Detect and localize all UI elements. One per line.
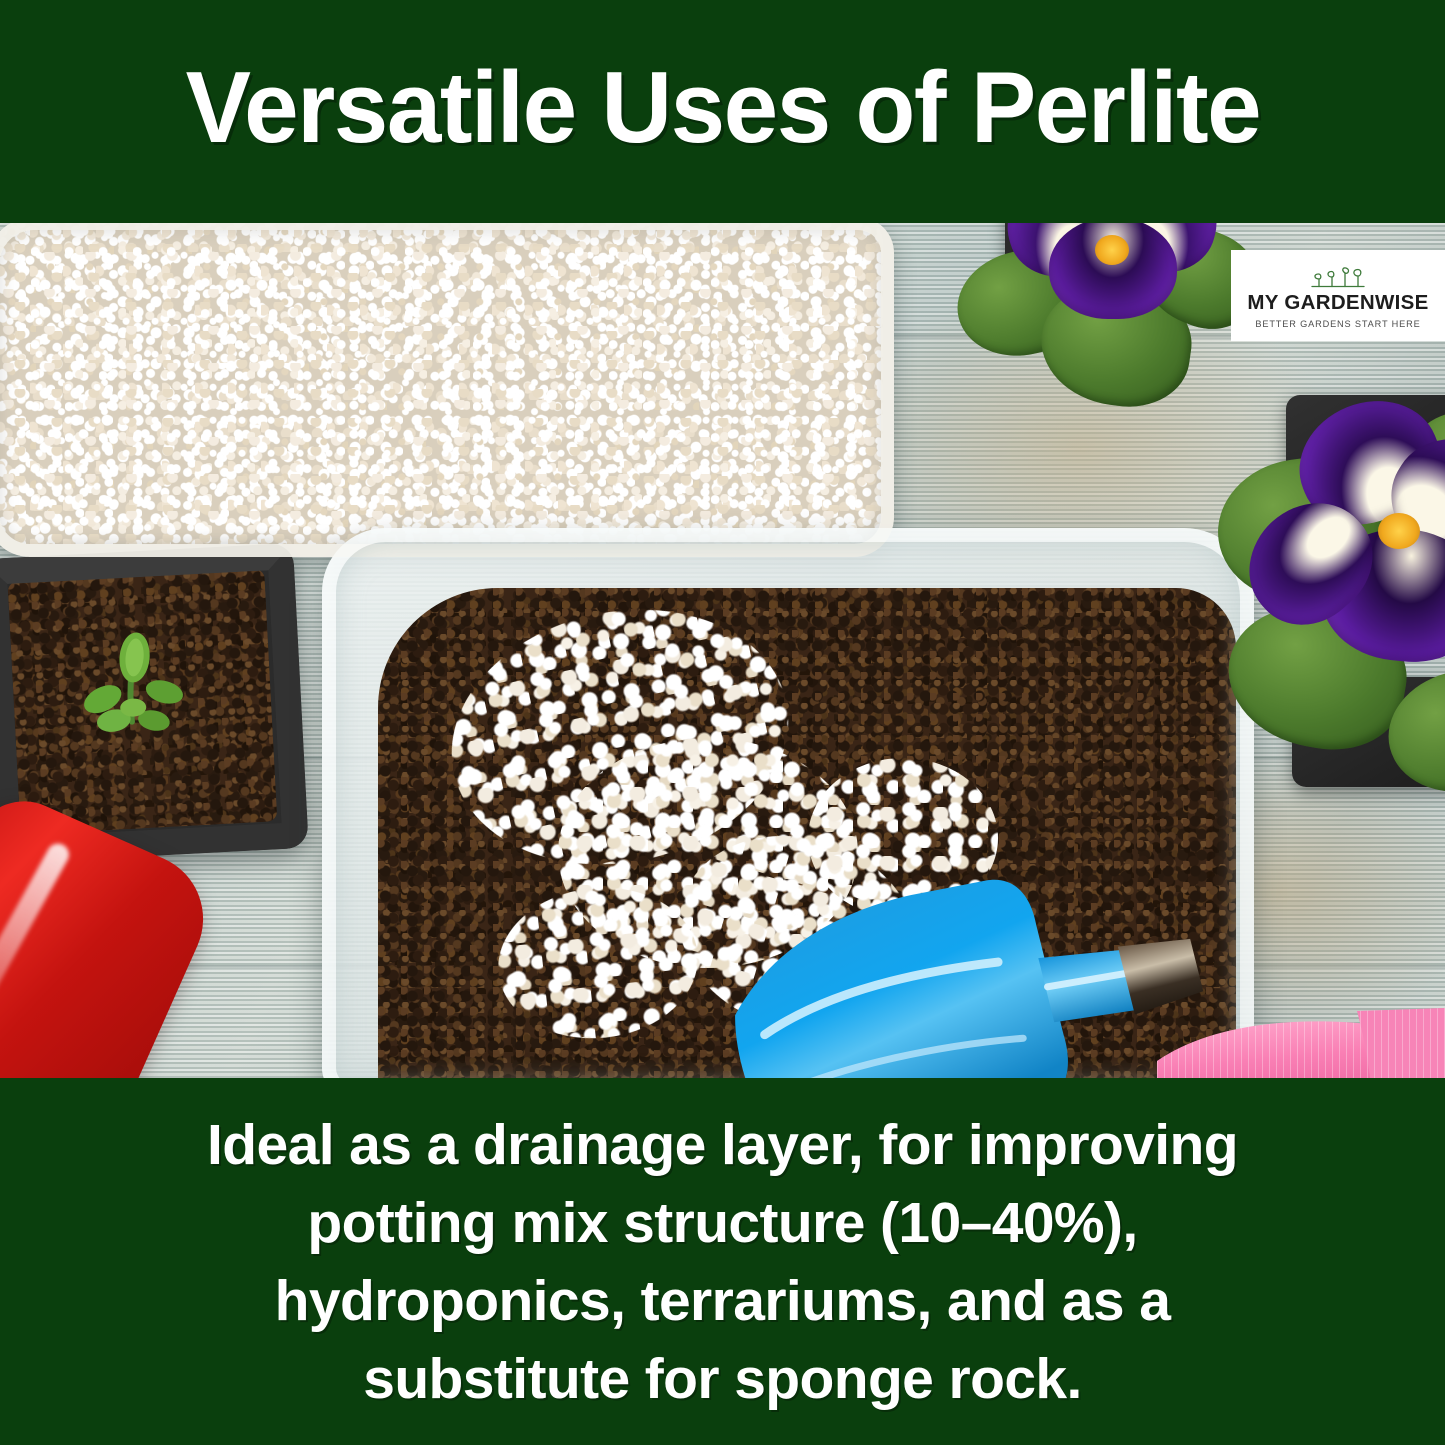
pansy-cluster-right bbox=[1232, 421, 1445, 751]
handle-highlight bbox=[0, 840, 73, 1042]
pink-glove bbox=[1143, 1003, 1445, 1078]
logo-tagline: BETTER GARDENS START HERE bbox=[1255, 320, 1420, 329]
logo-brand-name: MY GARDENWISE bbox=[1247, 293, 1428, 314]
photo-panel bbox=[0, 223, 1445, 1078]
caption-line-3: hydroponics, terrariums, and as a bbox=[275, 1262, 1171, 1340]
caption-line-1: Ideal as a drainage layer, for improving bbox=[207, 1106, 1238, 1184]
perlite-tray bbox=[0, 223, 894, 557]
perlite-infographic: Versatile Uses of Perlite bbox=[0, 0, 1445, 1445]
page-title: Versatile Uses of Perlite bbox=[185, 58, 1260, 165]
caption-line-4: substitute for sponge rock. bbox=[363, 1340, 1082, 1418]
pansy-cluster-top bbox=[945, 223, 1275, 477]
header-band: Versatile Uses of Perlite bbox=[0, 0, 1445, 223]
sprout-icon bbox=[1309, 266, 1367, 290]
pansy-center bbox=[1378, 513, 1420, 549]
seedling-soil bbox=[7, 569, 277, 835]
brand-logo-badge[interactable]: MY GARDENWISE BETTER GARDENS START HERE bbox=[1231, 250, 1445, 341]
pansy-center bbox=[1095, 235, 1129, 265]
seedling-sprout-icon bbox=[53, 608, 211, 766]
caption-line-2: potting mix structure (10–40%), bbox=[307, 1184, 1137, 1262]
perlite-fill bbox=[0, 223, 883, 545]
perlite-granules bbox=[0, 223, 883, 545]
caption-band: Ideal as a drainage layer, for improving… bbox=[0, 1078, 1445, 1445]
